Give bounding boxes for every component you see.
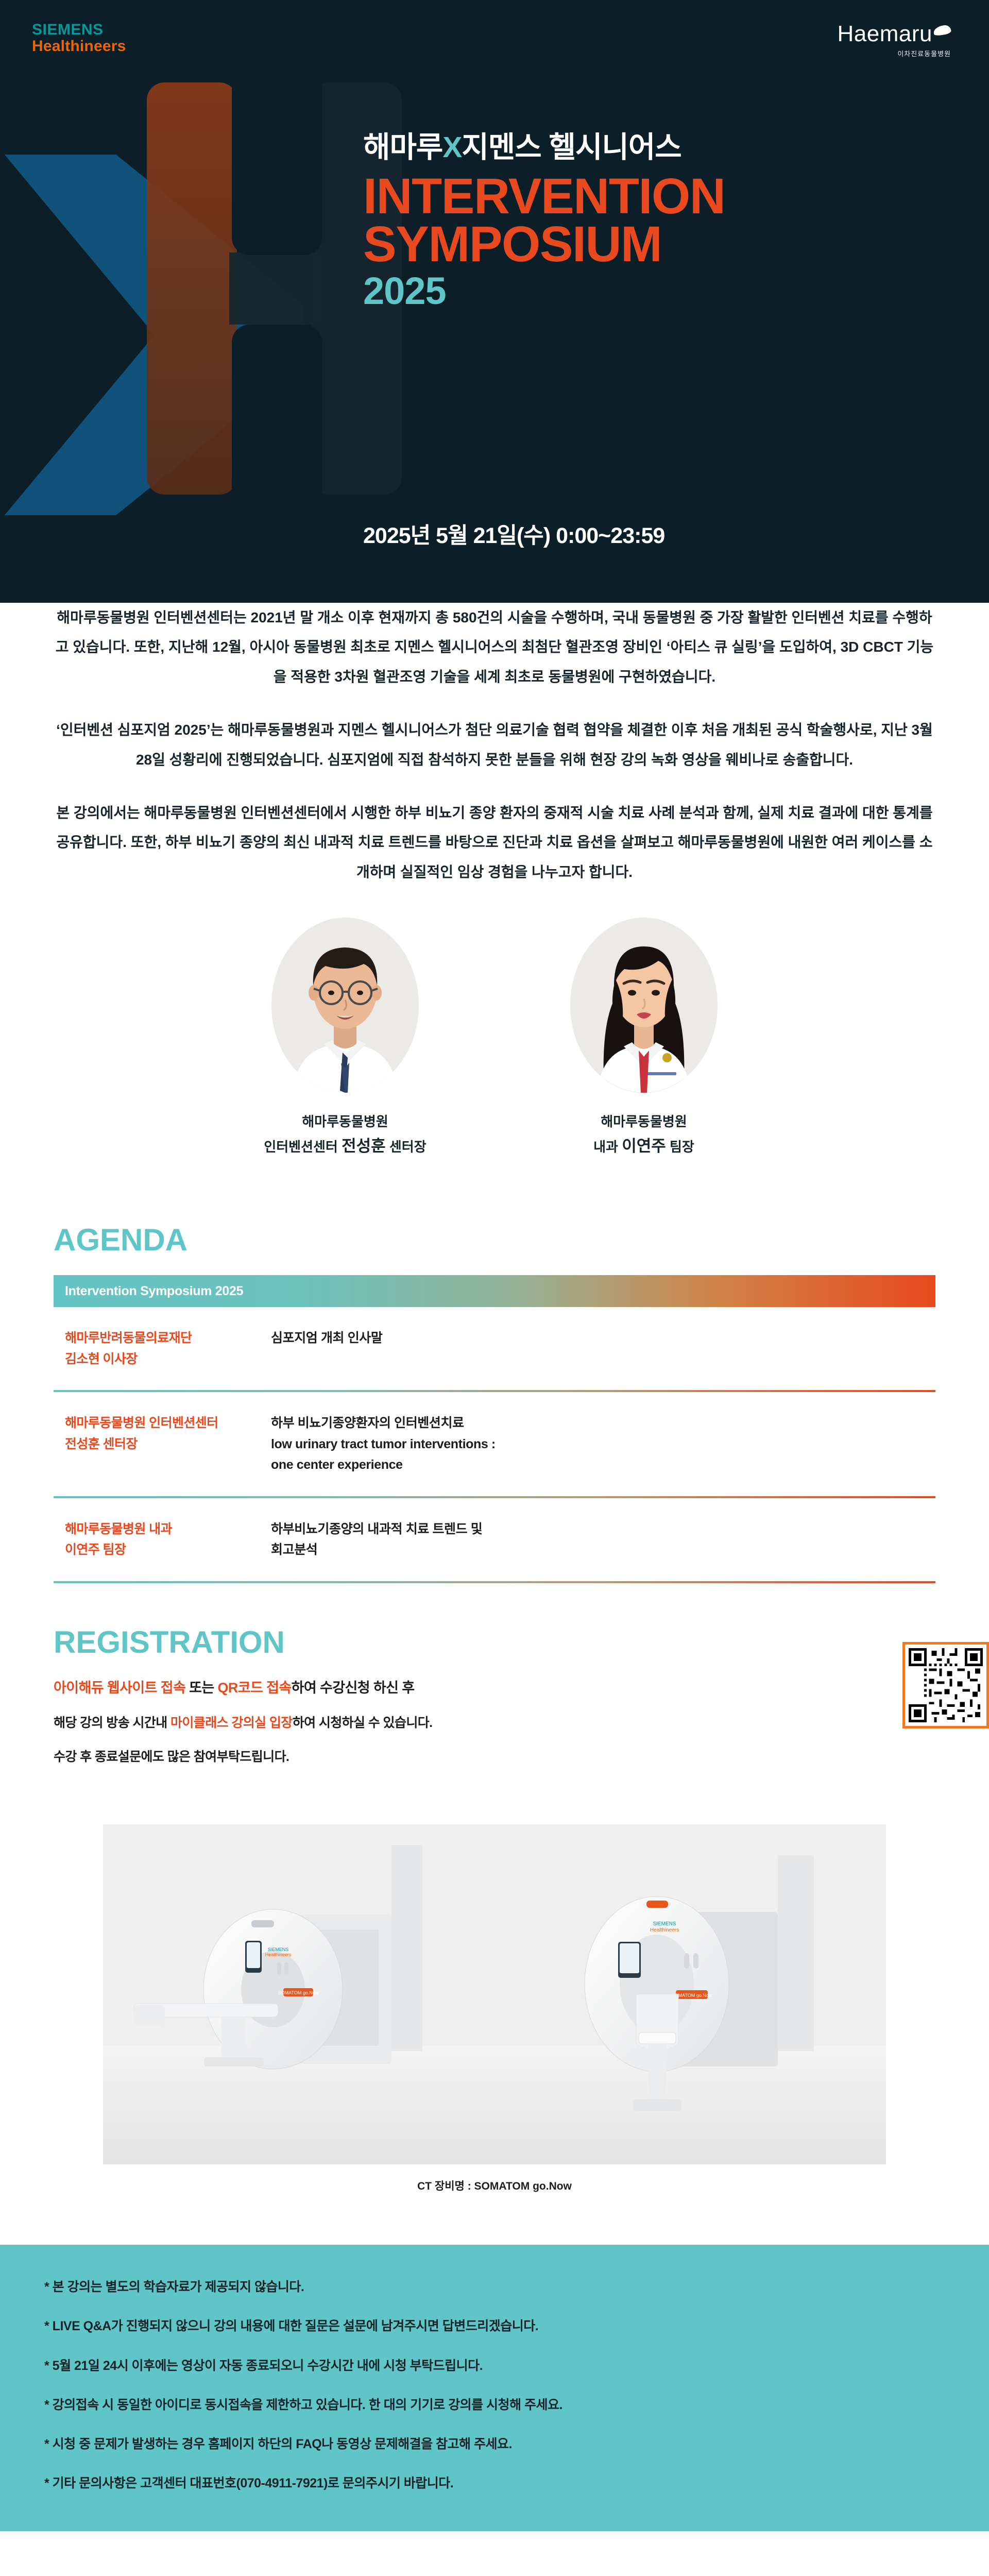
notice-item: * 5월 21일 24시 이후에는 영상이 자동 종료되오니 수강시간 내에 시… [44, 2357, 945, 2375]
svg-text:SIEMENS: SIEMENS [653, 1921, 676, 1927]
hero-banner: SIEMENS Healthineers Haemaru 이차진료동물병원 해마… [0, 0, 989, 603]
siemens-healthineers-logo: SIEMENS Healthineers [32, 22, 126, 54]
ct-scanner-illustration: SOMATOM go.Now SIEMENS Healthineers [103, 1824, 886, 2164]
speaker-card: 해마루동물병원 내과 이연주 팀장 [531, 918, 757, 1160]
agenda-topic-line1: 심포지엄 개최 인사말 [271, 1328, 924, 1349]
registration-line-1: 아이해듀 웹사이트 접속 또는 QR코드 접속하여 수강신청 하신 후 [54, 1677, 739, 1699]
hero-kr-a: 해마루 [363, 131, 442, 164]
dog-tail-icon [933, 24, 952, 37]
speaker-photo-male [271, 918, 419, 1093]
registration-section: REGISTRATION 아이해듀 웹사이트 접속 또는 QR코드 접속하여 수… [0, 1624, 989, 1777]
speakers-section: 해마루동물병원 인터벤션센터 전성훈 센터장 [0, 887, 989, 1181]
equipment-caption: CT 장비명 : SOMATOM go.Now [0, 2178, 989, 2193]
registration-or: 또는 [185, 1680, 217, 1696]
registration-line2-tail: 하여 시청하실 수 있습니다. [293, 1716, 433, 1730]
agenda-table-title: Intervention Symposium 2025 [65, 1284, 243, 1299]
qr-code-icon [909, 1648, 983, 1722]
registration-instructions: 아이해듀 웹사이트 접속 또는 QR코드 접속하여 수강신청 하신 후 해당 강… [54, 1677, 739, 1767]
intro-paragraph-2: ‘인터벤션 심포지엄 2025’는 해마루동물병원과 지멘스 헬시니어스가 첨단… [54, 715, 935, 774]
siemens-wordmark: SIEMENS [32, 22, 126, 38]
avatar-illustration [271, 918, 419, 1093]
speaker-dept: 인터벤션센터 [264, 1139, 338, 1155]
agenda-topic-line2: low urinary tract tumor interventions : [271, 1434, 924, 1455]
agenda-speaker-line1: 해마루반려동물의료재단 [65, 1328, 271, 1349]
speaker-photo-female [570, 918, 718, 1093]
idaedu-website-link[interactable]: 아이해듀 웹사이트 접속 [54, 1680, 185, 1696]
registration-line1-tail: 하여 수강신청 하신 후 [292, 1680, 415, 1696]
agenda-speaker-line2: 이연주 팀장 [65, 1539, 271, 1561]
monogram-notch-bottom [232, 325, 322, 495]
ct-scanner-photo: SOMATOM go.Now SIEMENS Healthineers [103, 1824, 886, 2164]
svg-text:SOMATOM go.Now: SOMATOM go.Now [278, 1990, 319, 1995]
speaker-name: 이연주 [622, 1137, 666, 1155]
haemaru-logo: Haemaru 이차진료동물병원 [838, 23, 951, 58]
hero-en-line1: INTERVENTION [363, 172, 725, 220]
notice-item: * 본 강의는 별도의 학습자료가 제공되지 않습니다. [44, 2278, 945, 2296]
agenda-topic: 심포지엄 개최 인사말 [271, 1328, 924, 1349]
agenda-speaker-line2: 김소현 이사장 [65, 1349, 271, 1370]
agenda-section: AGENDA Intervention Symposium 2025 해마루반려… [0, 1222, 989, 1583]
agenda-speaker: 해마루동물병원 내과 이연주 팀장 [65, 1519, 271, 1561]
speaker-name-line: 내과 이연주 팀장 [531, 1133, 757, 1160]
equipment-section: SOMATOM go.Now SIEMENS Healthineers [0, 1777, 989, 2214]
agenda-speaker-line1: 해마루동물병원 인터벤션센터 [65, 1413, 271, 1434]
agenda-topic: 하부비뇨기종양의 내과적 치료 트렌드 및 회고분석 [271, 1519, 924, 1561]
notices-list: * 본 강의는 별도의 학습자료가 제공되지 않습니다. * LIVE Q&A가… [44, 2278, 945, 2493]
haemaru-text: Haemaru [838, 21, 932, 46]
monogram-notch-top [232, 82, 322, 255]
registration-line-2: 해당 강의 방송 시간내 마이클래스 강의실 입장하여 시청하실 수 있습니다. [54, 1714, 739, 1733]
agenda-heading: AGENDA [54, 1222, 935, 1258]
symposium-landing-page: SIEMENS Healthineers Haemaru 이차진료동물병원 해마… [0, 0, 989, 2531]
myclass-classroom-link[interactable]: 마이클래스 강의실 입장 [170, 1716, 293, 1730]
haemaru-subtitle: 이차진료동물병원 [838, 48, 951, 58]
hero-year: 2025 [363, 272, 725, 310]
agenda-speaker-line2: 전성훈 센터장 [65, 1434, 271, 1455]
speaker-name: 전성훈 [342, 1137, 386, 1155]
agenda-topic-line2: 회고분석 [271, 1539, 924, 1561]
agenda-speaker: 해마루반려동물의료재단 김소현 이사장 [65, 1328, 271, 1369]
intro-section: 해마루동물병원 인터벤션센터는 2021년 말 개소 이후 현재까지 총 580… [0, 603, 989, 887]
registration-line-3: 수강 후 종료설문에도 많은 참여부탁드립니다. [54, 1748, 739, 1767]
agenda-topic-line1: 하부 비뇨기종양환자의 인터벤션치료 [271, 1413, 924, 1434]
healthineers-wordmark: Healthineers [32, 38, 126, 55]
hero-title-block: 해마루X지멘스 헬시니어스 INTERVENTION SYMPOSIUM 202… [363, 131, 725, 310]
speaker-name-line: 인터벤션센터 전성훈 센터장 [232, 1133, 458, 1160]
hero-english-title: INTERVENTION SYMPOSIUM [363, 172, 725, 268]
monogram-crossbar [229, 252, 322, 325]
svg-text:Healthineers: Healthineers [650, 1927, 679, 1933]
svg-text:SIEMENS: SIEMENS [268, 1947, 289, 1952]
hero-korean-title: 해마루X지멘스 헬시니어스 [363, 131, 725, 164]
registration-line2-head: 해당 강의 방송 시간내 [54, 1716, 170, 1730]
agenda-speaker-line1: 해마루동물병원 내과 [65, 1519, 271, 1540]
hero-en-line2: SYMPOSIUM [363, 220, 725, 268]
speaker-org: 해마루동물병원 [232, 1110, 458, 1133]
event-date: 2025년 5월 21일(수) 0:00~23:59 [363, 518, 664, 550]
avatar-illustration [570, 918, 718, 1093]
speaker-card: 해마루동물병원 인터벤션센터 전성훈 센터장 [232, 918, 458, 1160]
hero-kr-b: 지멘스 헬시니어스 [462, 131, 681, 164]
svg-text:Healthineers: Healthineers [265, 1952, 292, 1957]
hero-kr-x: X [442, 131, 462, 164]
agenda-topic: 하부 비뇨기종양환자의 인터벤션치료 low urinary tract tum… [271, 1413, 924, 1476]
intro-paragraph-1: 해마루동물병원 인터벤션센터는 2021년 말 개소 이후 현재까지 총 580… [54, 603, 935, 691]
speaker-dept: 내과 [593, 1139, 618, 1155]
monogram-left-bar [147, 82, 237, 495]
agenda-topic-line1: 하부비뇨기종양의 내과적 치료 트렌드 및 [271, 1519, 924, 1540]
agenda-table-header: Intervention Symposium 2025 [54, 1275, 935, 1307]
intro-paragraph-3: 본 강의에서는 해마루동물병원 인터벤션센터에서 시행한 하부 비뇨기 종양 환… [54, 798, 935, 887]
speaker-title: 팀장 [670, 1139, 694, 1155]
agenda-speaker: 해마루동물병원 인터벤션센터 전성훈 센터장 [65, 1413, 271, 1454]
speaker-org: 해마루동물병원 [531, 1110, 757, 1133]
registration-heading: REGISTRATION [54, 1624, 935, 1660]
agenda-row: 해마루동물병원 내과 이연주 팀장 하부비뇨기종양의 내과적 치료 트렌드 및 … [54, 1498, 935, 1583]
speaker-title: 센터장 [389, 1139, 427, 1155]
agenda-topic-line3: one center experience [271, 1454, 924, 1476]
notice-item: * 기타 문의사항은 고객센터 대표번호(070-4911-7921)로 문의주… [44, 2474, 945, 2493]
qr-code[interactable] [902, 1642, 989, 1728]
agenda-row: 해마루반려동물의료재단 김소현 이사장 심포지엄 개최 인사말 [54, 1307, 935, 1392]
haemaru-wordmark: Haemaru [838, 23, 951, 45]
notice-item: * LIVE Q&A가 진행되지 않으니 강의 내용에 대한 질문은 설문에 남… [44, 2317, 945, 2335]
notice-item: * 강의접속 시 동일한 아이디로 동시접속을 제한하고 있습니다. 한 대의 … [44, 2396, 945, 2414]
qr-code-link[interactable]: QR코드 접속 [218, 1680, 292, 1696]
notice-item: * 시청 중 문제가 발생하는 경우 홈페이지 하단의 FAQ나 동영상 문제해… [44, 2435, 945, 2453]
notices-section: * 본 강의는 별도의 학습자료가 제공되지 않습니다. * LIVE Q&A가… [0, 2245, 989, 2531]
agenda-row: 해마루동물병원 인터벤션센터 전성훈 센터장 하부 비뇨기종양환자의 인터벤션치… [54, 1392, 935, 1498]
